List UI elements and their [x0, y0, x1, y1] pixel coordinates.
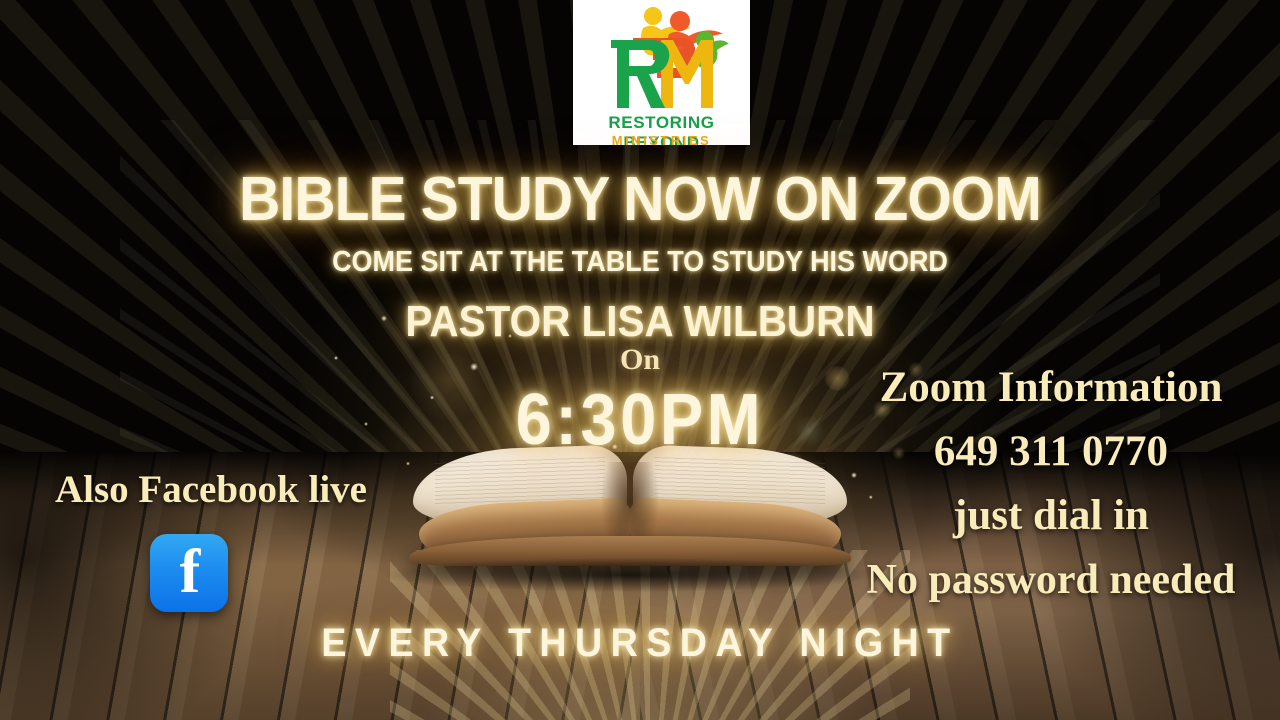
- ministry-logo-card: RESTORING BEYOND MINISTRIES: [573, 0, 750, 145]
- subtitle: COME SIT AT THE TABLE TO STUDY HIS WORD: [45, 245, 1235, 279]
- event-recurrence: EVERY THURSDAY NIGHT: [38, 620, 1241, 666]
- zoom-dial-instruction: just dial in: [836, 484, 1266, 548]
- zoom-password-note: No password needed: [836, 548, 1266, 612]
- facebook-icon[interactable]: f: [150, 534, 228, 612]
- pastor-name: PASTOR LISA WILBURN: [51, 297, 1229, 347]
- book-drop-shadow: [385, 558, 875, 592]
- facebook-f-glyph: f: [150, 534, 228, 612]
- rbm-monogram-icon: [595, 4, 729, 112]
- open-book-illustration: [405, 440, 855, 590]
- facebook-live-label: Also Facebook live: [16, 466, 406, 514]
- zoom-dial-in-number: 649 311 0770: [836, 420, 1266, 484]
- zoom-information-block: Zoom Information 649 311 0770 just dial …: [836, 356, 1266, 612]
- zoom-info-heading: Zoom Information: [836, 356, 1266, 420]
- flyer-canvas: RESTORING BEYOND MINISTRIES BIBLE STUDY …: [0, 0, 1280, 720]
- page-title: BIBLE STUDY NOW ON ZOOM: [51, 166, 1229, 234]
- logo-subtitle: MINISTRIES: [573, 133, 750, 145]
